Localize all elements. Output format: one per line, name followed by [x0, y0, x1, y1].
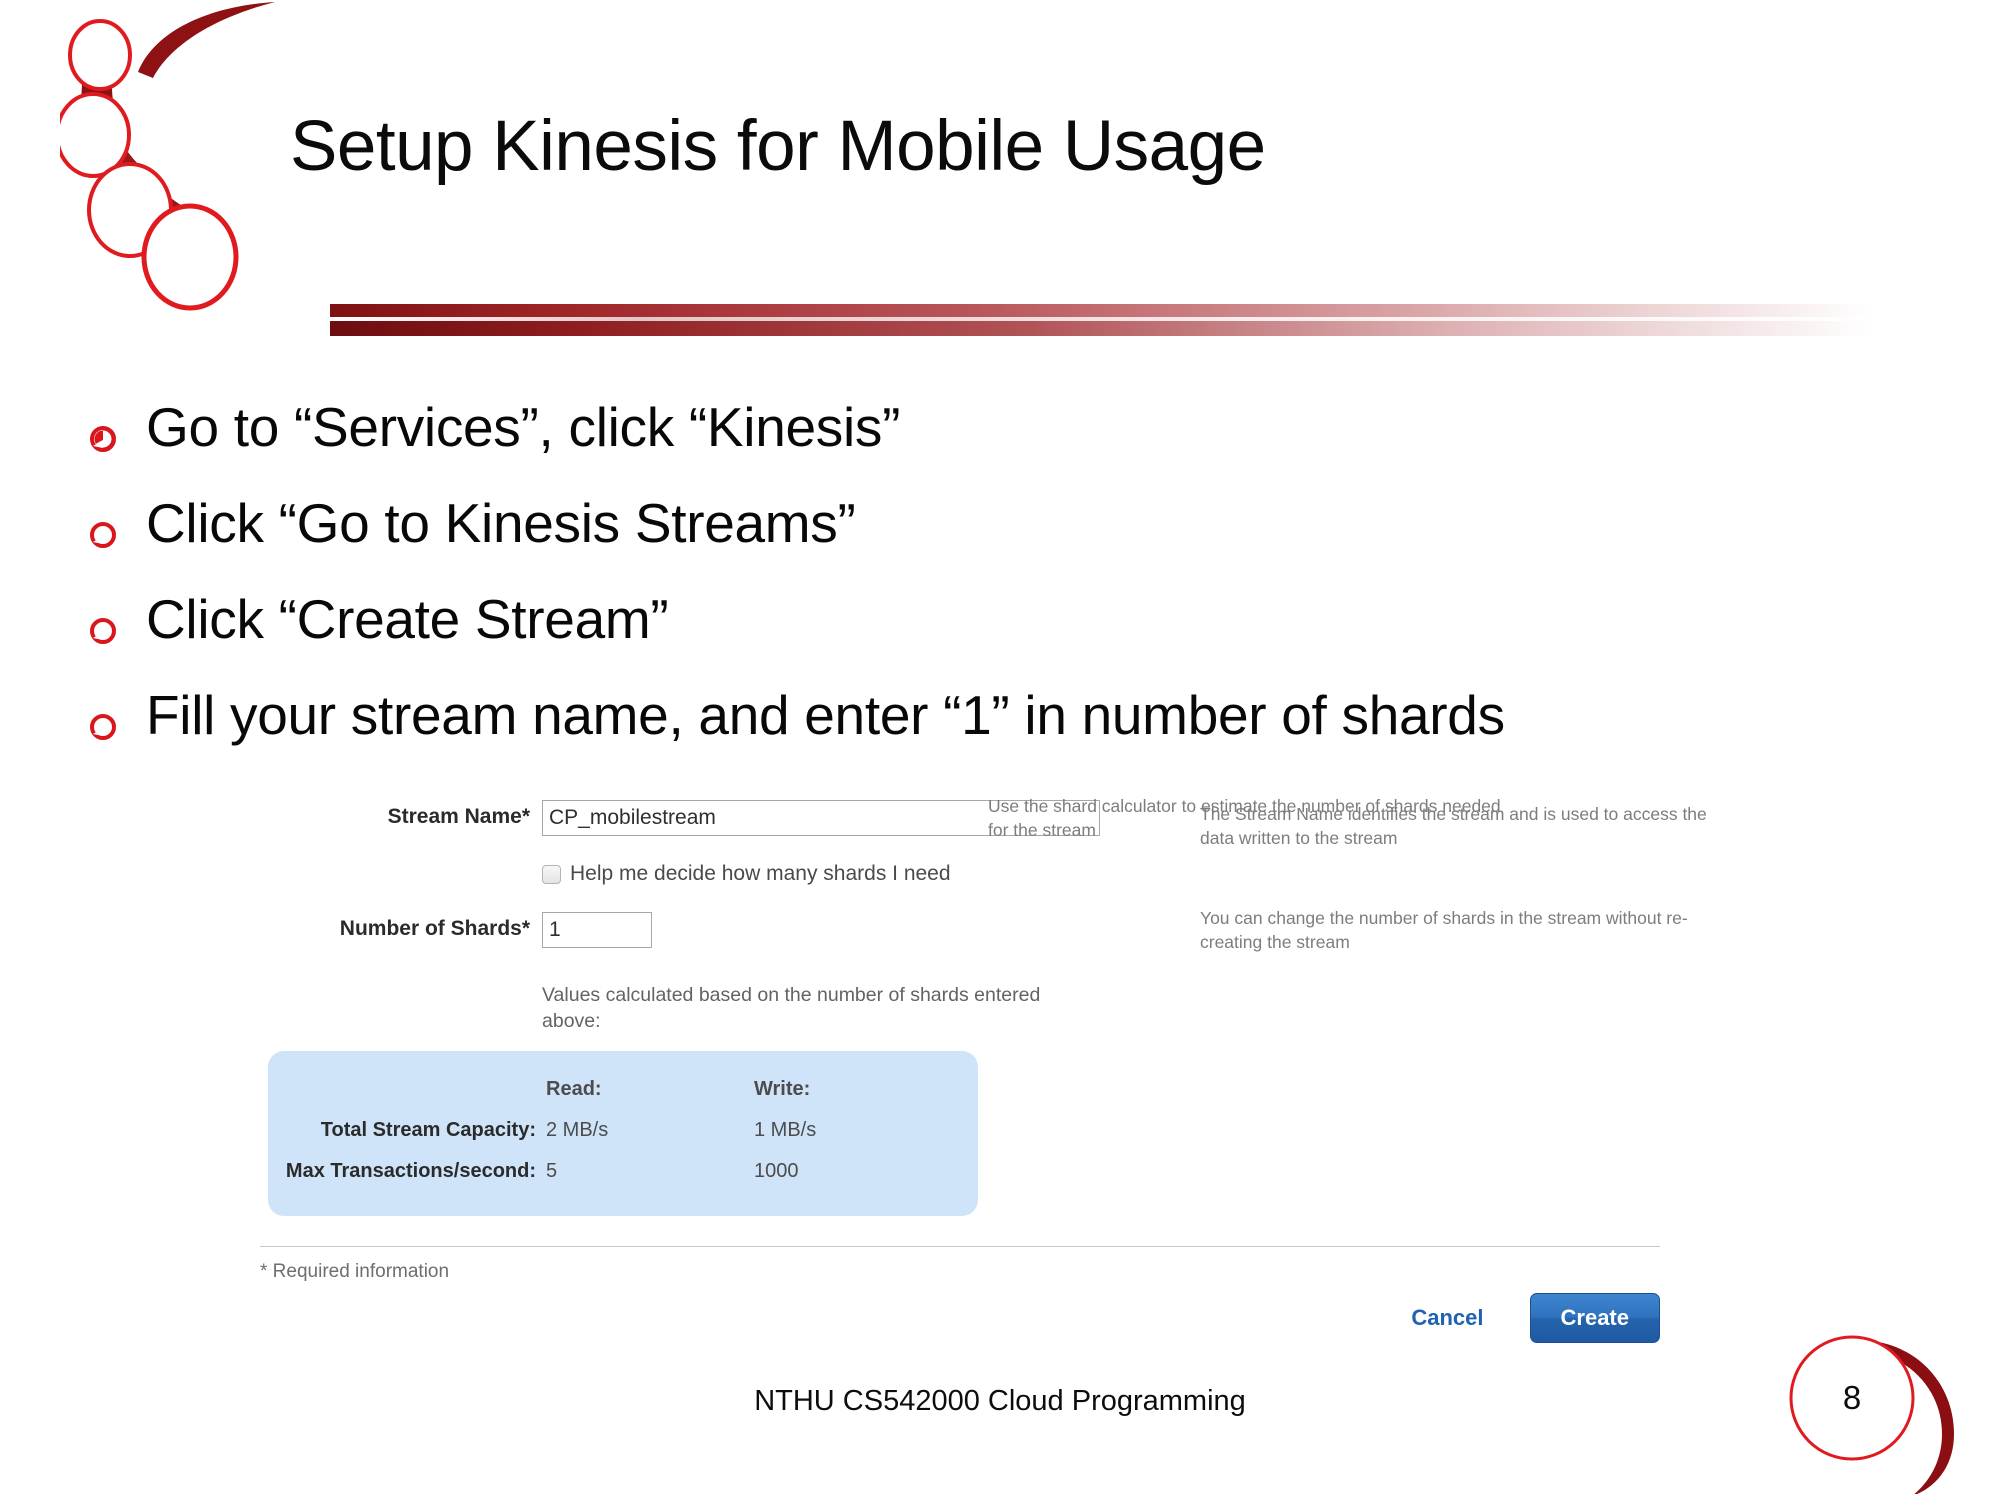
ring-bullet-icon [88, 688, 146, 742]
table-row: Max Transactions/second: 5 1000 [268, 1151, 978, 1192]
page-number-badge: 8 [1786, 1334, 1982, 1494]
shard-helper-help-text: Use the shard calculator to estimate the… [988, 794, 1508, 842]
list-item: Go to “Services”, click “Kinesis” [88, 400, 1948, 496]
max-transactions-write: 1000 [754, 1151, 978, 1192]
bullet-label: Go to “Services”, click “Kinesis” [146, 400, 900, 455]
max-transactions-label: Max Transactions/second: [268, 1151, 546, 1192]
total-stream-capacity-read: 2 MB/s [546, 1110, 754, 1151]
bullet-label: Click “Create Stream” [146, 592, 668, 647]
ring-bullet-icon [88, 400, 146, 454]
table-row: Total Stream Capacity: 2 MB/s 1 MB/s [268, 1110, 978, 1151]
bullet-list: Go to “Services”, click “Kinesis” Click … [88, 400, 1948, 784]
title-bar-band-bottom [330, 321, 1870, 336]
capacity-header-spacer [268, 1069, 546, 1110]
create-stream-form: Stream Name* The Stream Name identifies … [330, 800, 1730, 1343]
bullet-label: Click “Go to Kinesis Streams” [146, 496, 856, 551]
form-divider [260, 1246, 1660, 1247]
number-of-shards-input[interactable] [542, 912, 652, 948]
capacity-panel: Read: Write: Total Stream Capacity: 2 MB… [268, 1051, 978, 1216]
list-item: Click “Go to Kinesis Streams” [88, 496, 1948, 592]
max-transactions-read: 5 [546, 1151, 754, 1192]
number-of-shards-row: Number of Shards* You can change the num… [330, 912, 1730, 948]
list-item: Click “Create Stream” [88, 592, 1948, 688]
bullet-label: Fill your stream name, and enter “1” in … [146, 688, 1505, 743]
ring-bullet-icon [88, 592, 146, 646]
capacity-write-header: Write: [754, 1069, 978, 1110]
title-underline-bar [330, 300, 1870, 344]
stream-name-label: Stream Name* [330, 800, 530, 829]
shard-helper-label: Help me decide how many shards I need [570, 862, 951, 886]
create-button[interactable]: Create [1530, 1293, 1660, 1343]
form-actions: Cancel Create [260, 1293, 1660, 1343]
number-of-shards-label: Number of Shards* [330, 912, 530, 941]
total-stream-capacity-write: 1 MB/s [754, 1110, 978, 1151]
required-information-note: * Required information [260, 1261, 1730, 1283]
shard-helper-row: Help me decide how many shards I need Us… [542, 862, 1730, 886]
page-number: 8 [1790, 1336, 1914, 1460]
title-bar-band-top [330, 304, 1870, 317]
ring-bullet-icon [88, 496, 146, 550]
list-item: Fill your stream name, and enter “1” in … [88, 688, 1948, 784]
capacity-table: Read: Write: Total Stream Capacity: 2 MB… [268, 1069, 978, 1192]
cancel-button[interactable]: Cancel [1405, 1304, 1489, 1332]
number-of-shards-help-text: You can change the number of shards in t… [1200, 906, 1720, 954]
page-title: Setup Kinesis for Mobile Usage [290, 110, 1890, 185]
number-of-shards-field-wrap: You can change the number of shards in t… [542, 912, 652, 948]
slide-footer: NTHU CS542000 Cloud Programming [0, 1385, 2000, 1418]
table-header-row: Read: Write: [268, 1069, 978, 1110]
shard-helper-checkbox[interactable] [542, 865, 561, 884]
capacity-read-header: Read: [546, 1069, 754, 1110]
calculated-values-note: Values calculated based on the number of… [542, 982, 1087, 1035]
total-stream-capacity-label: Total Stream Capacity: [268, 1110, 546, 1151]
